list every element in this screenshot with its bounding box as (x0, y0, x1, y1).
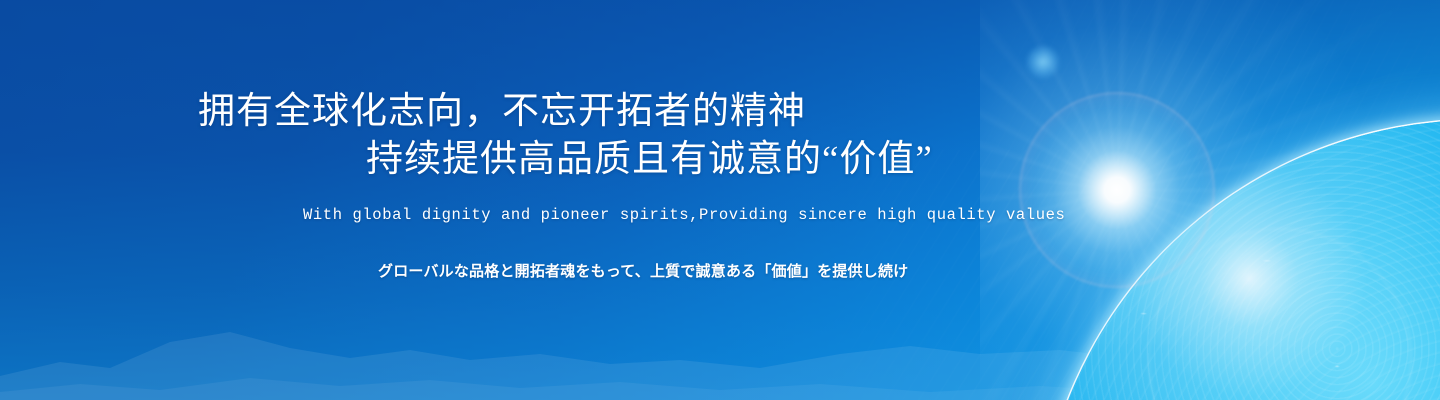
banner-copy: 拥有全球化志向，不忘开拓者的精神 持续提供高品质且有诚意的“价值” With g… (0, 0, 1440, 400)
subtitle-english: With global dignity and pioneer spirits,… (303, 206, 1065, 224)
subtitle-japanese: グローバルな品格と開拓者魂をもって、上質で誠意ある「価値」を提供し続け (378, 260, 908, 281)
headline: 拥有全球化志向，不忘开拓者的精神 持续提供高品质且有诚意的“价值” (198, 88, 933, 184)
hero-banner: 拥有全球化志向，不忘开拓者的精神 持续提供高品质且有诚意的“价值” With g… (0, 0, 1440, 400)
headline-line-1: 拥有全球化志向，不忘开拓者的精神 (198, 91, 806, 132)
headline-line-2: 持续提供高品质且有诚意的“价值” (198, 136, 933, 184)
